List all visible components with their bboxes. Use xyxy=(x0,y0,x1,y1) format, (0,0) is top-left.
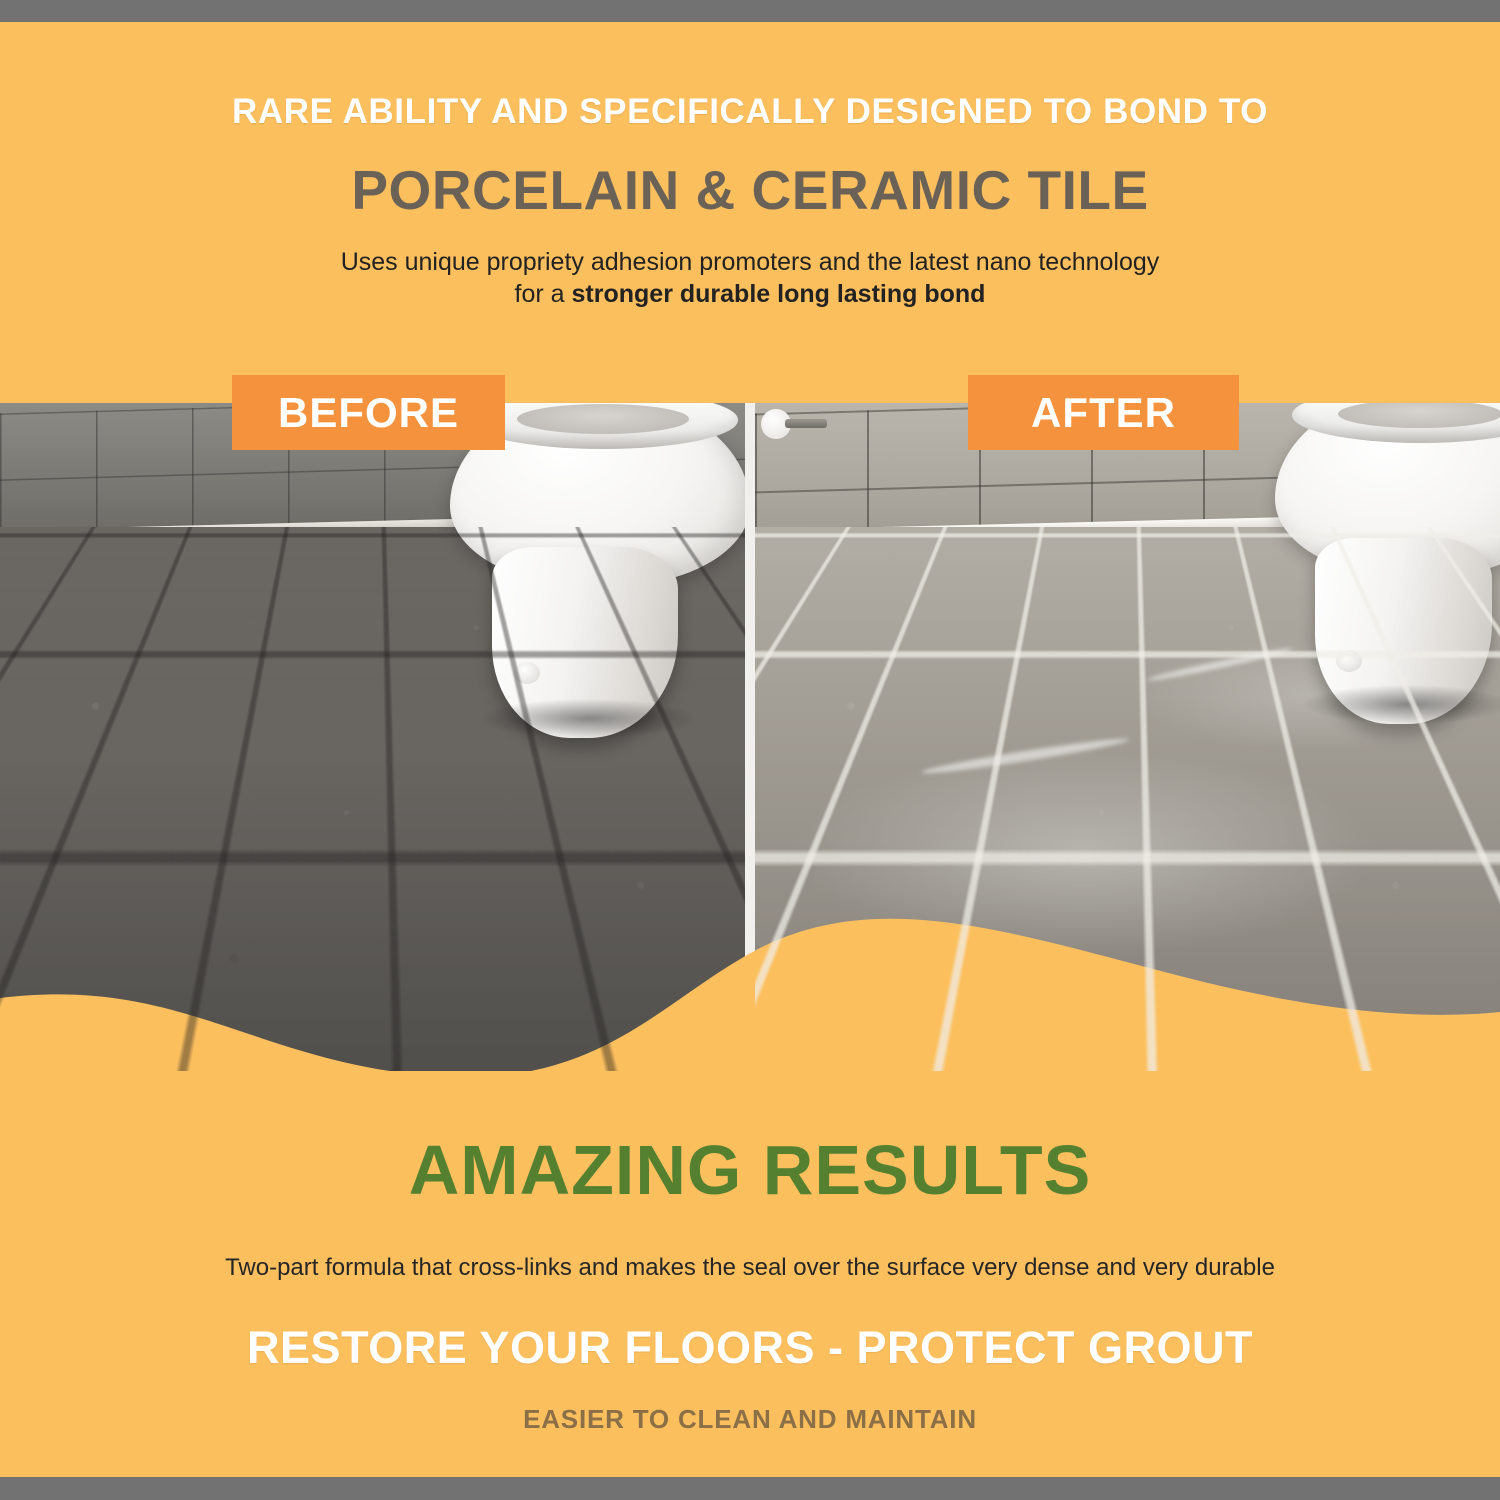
before-toilet xyxy=(450,403,745,725)
after-badge: AFTER xyxy=(968,375,1239,450)
subtitle-line-2: for a stronger durable long lasting bond xyxy=(0,280,1500,309)
subtitle-line-2-emphasis: stronger durable long lasting bond xyxy=(572,280,986,308)
header-section: RARE ABILITY AND SPECIFICALLY DESIGNED T… xyxy=(0,22,1500,309)
top-border-bar xyxy=(0,0,1500,22)
cta-subtext: EASIER TO CLEAN AND MAINTAIN xyxy=(0,1404,1500,1435)
cta-headline: RESTORE YOUR FLOORS - PROTECT GROUT xyxy=(0,1322,1500,1374)
promo-infographic: RARE ABILITY AND SPECIFICALLY DESIGNED T… xyxy=(0,0,1500,1500)
eyebrow-text: RARE ABILITY AND SPECIFICALLY DESIGNED T… xyxy=(0,92,1500,132)
wave-divider xyxy=(0,880,1500,1080)
before-badge: BEFORE xyxy=(232,375,505,450)
footer-section: AMAZING RESULTS Two-part formula that cr… xyxy=(0,1100,1500,1435)
results-title: AMAZING RESULTS xyxy=(0,1130,1500,1210)
results-description: Two-part formula that cross-links and ma… xyxy=(0,1254,1500,1282)
subtitle-line-2-prefix: for a xyxy=(515,280,572,308)
bottom-border-bar xyxy=(0,1477,1500,1500)
after-toilet xyxy=(1275,403,1500,711)
page-title: PORCELAIN & CERAMIC TILE xyxy=(0,158,1500,222)
subtitle-line-1: Uses unique propriety adhesion promoters… xyxy=(0,248,1500,277)
